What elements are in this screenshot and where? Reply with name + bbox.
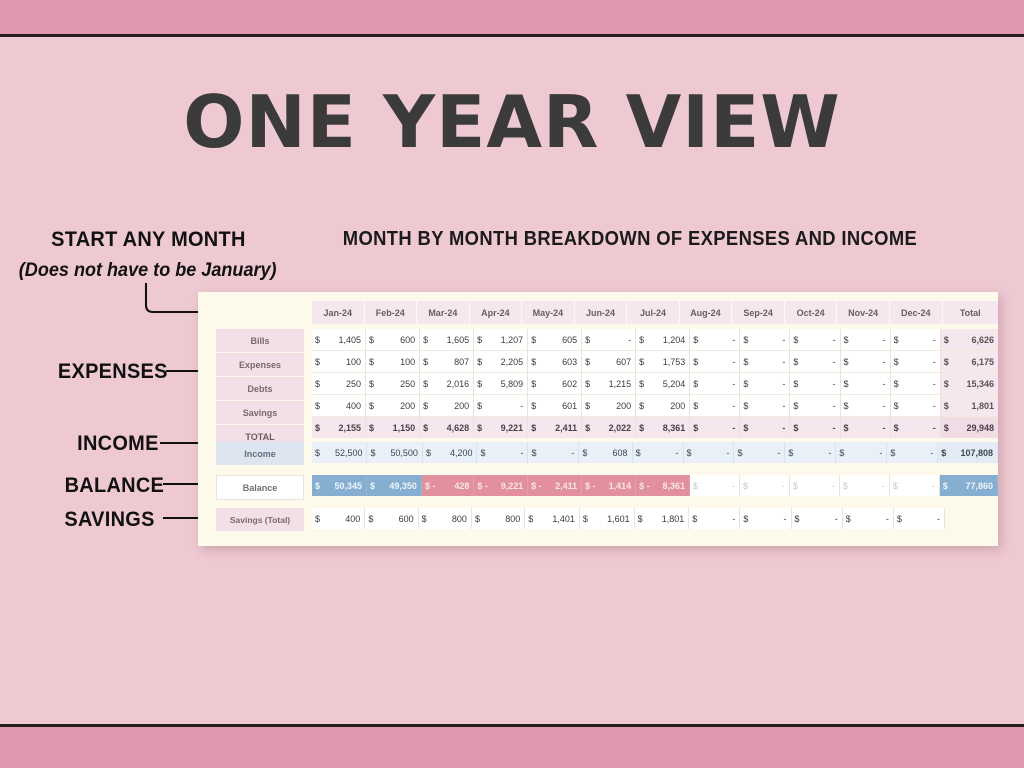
grid-cell[interactable]: $2,205 [474, 351, 528, 373]
grid-cell[interactable]: $ -2,411 [528, 475, 582, 496]
grid-cell[interactable]: $1,601 [580, 508, 635, 529]
cell-value: 77,860 [943, 481, 993, 491]
cell-value: 1,601 [583, 514, 630, 524]
grid-cell[interactable]: $- [690, 351, 740, 373]
row-label-income[interactable]: Income [216, 442, 304, 465]
currency-symbol: $ [893, 481, 898, 491]
grid-cell[interactable]: $50,345 [312, 475, 367, 496]
income-row-label[interactable]: Income [216, 442, 304, 465]
currency-symbol: $ [693, 481, 698, 491]
currency-symbol: $ [793, 335, 798, 345]
currency-symbol: $ [894, 401, 899, 411]
currency-symbol: $ - [531, 481, 542, 491]
cell-value: 50,500 [370, 448, 417, 458]
grid-cell[interactable]: $601 [528, 395, 582, 417]
currency-symbol: $ [315, 335, 320, 345]
grid-cell[interactable]: $ -9,221 [474, 475, 528, 496]
grid-cell[interactable]: $- [690, 417, 740, 438]
cell-value: 5,204 [639, 379, 685, 389]
currency-symbol: $ [844, 335, 849, 345]
currency-symbol: $ [743, 423, 748, 433]
grid-cell[interactable]: $1,215 [582, 373, 636, 395]
grid-cell[interactable]: $605 [528, 329, 582, 351]
row-label-savings-total[interactable]: Savings (Total) [216, 508, 304, 531]
currency-symbol: $ [890, 448, 895, 458]
cell-value: - [839, 448, 882, 458]
cell-value: - [793, 379, 835, 389]
table-row[interactable]: $50,345$49,350$ -428$ -9,221$ -2,411$ -1… [312, 475, 998, 496]
cell-value: 200 [423, 401, 469, 411]
currency-symbol: $ [528, 514, 533, 524]
grid-cell[interactable]: $- [684, 442, 735, 463]
grid-cell[interactable]: $- [840, 475, 890, 496]
cell-value: - [693, 335, 735, 345]
grid-cell[interactable]: $- [891, 351, 941, 373]
grid-cell[interactable]: $- [841, 395, 891, 417]
currency-symbol: $ [426, 448, 431, 458]
currency-symbol: $ [743, 514, 748, 524]
currency-symbol: $ [585, 335, 590, 345]
currency-symbol: $ [477, 335, 482, 345]
cell-value: 50,345 [315, 481, 362, 491]
cell-value: 1,801 [944, 401, 994, 411]
cell-value: - [743, 379, 785, 389]
cell-value: 15,346 [944, 379, 994, 389]
grid-cell[interactable]: $- [891, 329, 941, 351]
table-row[interactable]: $52,500$50,500$4,200$-$-$608$-$-$-$-$-$-… [312, 442, 998, 463]
currency-symbol: $ [315, 401, 320, 411]
currency-symbol: $ [944, 335, 949, 345]
currency-symbol: $ [477, 423, 482, 433]
cell-value: - [693, 379, 735, 389]
currency-symbol: $ [844, 379, 849, 389]
grid-cell[interactable]: $4,628 [420, 417, 474, 438]
cell-value: 107,808 [941, 448, 993, 458]
currency-symbol: $ [687, 448, 692, 458]
cell-value: - [585, 335, 631, 345]
cell-value: - [844, 357, 886, 367]
cell-value: - [743, 335, 785, 345]
currency-symbol: $ [368, 514, 373, 524]
grid-cell[interactable]: $- [740, 417, 790, 438]
currency-symbol: $ [743, 401, 748, 411]
grid-cell[interactable]: $- [740, 475, 790, 496]
grid-cell[interactable]: $800 [472, 508, 525, 529]
currency-symbol: $ [531, 448, 536, 458]
table-row[interactable]: $1,405$600$1,605$1,207$605$-$1,204$-$-$-… [312, 329, 998, 351]
currency-symbol: $ [941, 448, 946, 458]
currency-symbol: $ [423, 357, 428, 367]
grid-cell[interactable]: $- [841, 351, 891, 373]
cell-value: - [693, 401, 735, 411]
grid-cell[interactable]: $4,200 [423, 442, 478, 463]
column-header-nov-24: Nov-24 [837, 301, 890, 324]
grid-cell[interactable]: $5,204 [636, 373, 690, 395]
grid-cell[interactable]: $- [891, 395, 941, 417]
currency-symbol: $ [693, 423, 698, 433]
cell-value: - [692, 514, 735, 524]
grid-cell[interactable]: $- [740, 373, 790, 395]
cell-value: - [743, 401, 785, 411]
currency-symbol: $ [531, 357, 536, 367]
currency-symbol: $ [846, 514, 851, 524]
grid-cell[interactable]: $6,175 [941, 351, 998, 373]
cell-value: 250 [315, 379, 361, 389]
cell-value: - [531, 448, 574, 458]
grid-cell[interactable]: $- [841, 373, 891, 395]
currency-symbol: $ [315, 423, 320, 433]
cell-value: 800 [422, 514, 467, 524]
currency-symbol: $ [639, 335, 644, 345]
cell-value: - [480, 448, 523, 458]
grid-cell[interactable]: $- [689, 508, 740, 529]
cell-value: - [844, 401, 886, 411]
grid-cell[interactable]: $600 [365, 508, 418, 529]
cell-value: 400 [315, 401, 361, 411]
grid-cell[interactable]: $603 [528, 351, 582, 373]
grid-cell[interactable]: $400 [312, 395, 366, 417]
grid-cell[interactable]: $- [894, 508, 945, 529]
cell-value: 4,200 [426, 448, 473, 458]
cell-value: 5,809 [477, 379, 523, 389]
cell-value: 600 [369, 335, 415, 345]
cell-value: 9,221 [477, 423, 523, 433]
grid-cell[interactable]: $1,801 [941, 395, 998, 417]
currency-symbol: $ [793, 379, 798, 389]
cell-value: - [793, 335, 835, 345]
column-header-jul-24: Jul-24 [627, 301, 679, 324]
currency-symbol: $ [692, 514, 697, 524]
grid-cell[interactable]: $- [890, 475, 940, 496]
cell-value: 6,175 [944, 357, 994, 367]
currency-symbol: $ [477, 357, 482, 367]
grid-cell[interactable]: $- [785, 442, 836, 463]
grid-cell[interactable]: $- [790, 395, 840, 417]
grid-cell[interactable]: $5,809 [474, 373, 528, 395]
grid-cell[interactable]: $602 [528, 373, 582, 395]
cell-value: 1,207 [477, 335, 523, 345]
grid-cell[interactable]: $- [790, 329, 840, 351]
grid-cell[interactable]: $- [891, 417, 941, 438]
grid-cell[interactable]: $200 [636, 395, 690, 417]
grid-cell[interactable]: $29,948 [941, 417, 998, 438]
cell-value: - [894, 357, 936, 367]
cell-value: 29,948 [944, 423, 994, 433]
cell-value: - [477, 401, 523, 411]
grid-cell[interactable]: $- [836, 442, 887, 463]
currency-symbol: $ [582, 448, 587, 458]
currency-symbol: $ [370, 448, 375, 458]
currency-symbol: $ [793, 481, 798, 491]
balance-row-label[interactable]: Balance [216, 475, 304, 500]
grid-cell[interactable]: $- [792, 508, 843, 529]
cell-value: - [743, 481, 785, 491]
grid-cell[interactable]: $1,207 [474, 329, 528, 351]
currency-symbol: $ - [639, 481, 650, 491]
currency-symbol: $ [737, 448, 742, 458]
cell-value: - [894, 423, 936, 433]
spreadsheet-grid[interactable]: Jan-24Feb-24Mar-24Apr-24May-24Jun-24Jul-… [198, 292, 998, 546]
currency-symbol: $ [897, 514, 902, 524]
grid-cell[interactable]: $- [477, 442, 528, 463]
cell-value: - [693, 423, 735, 433]
cell-value: - [894, 401, 936, 411]
cell-value: 2,205 [477, 357, 523, 367]
currency-symbol: $ [583, 514, 588, 524]
callout-income: INCOME [77, 432, 159, 456]
column-header-aug-24: Aug-24 [680, 301, 733, 324]
table-header-row: Jan-24Feb-24Mar-24Apr-24May-24Jun-24Jul-… [312, 301, 998, 324]
currency-symbol: $ [639, 423, 644, 433]
row-label-balance[interactable]: Balance [216, 475, 304, 500]
currency-symbol: $ [944, 401, 949, 411]
currency-symbol: $ [585, 401, 590, 411]
grid-cell[interactable]: $- [474, 395, 528, 417]
cell-value: - [788, 448, 831, 458]
table-row[interactable]: $400$600$800$800$1,401$1,601$1,801$-$-$-… [312, 508, 998, 529]
grid-cell[interactable]: $6,626 [941, 329, 998, 351]
cell-value: - [894, 379, 936, 389]
grid-cell[interactable]: $1,204 [636, 329, 690, 351]
currency-symbol: $ [743, 357, 748, 367]
callout-savings: SAVINGS [64, 508, 154, 532]
currency-symbol: $ [693, 335, 698, 345]
grid-cell[interactable]: $- [690, 475, 740, 496]
grid-cell[interactable]: $600 [366, 329, 420, 351]
grid-cell[interactable]: $- [790, 351, 840, 373]
grid-cell[interactable]: $- [740, 395, 790, 417]
cell-value: - [844, 423, 886, 433]
grid-cell[interactable]: $15,346 [941, 373, 998, 395]
cell-value: 608 [582, 448, 627, 458]
currency-symbol: $ - [585, 481, 596, 491]
row-label-expenses[interactable]: Expenses [216, 353, 304, 377]
grid-cell[interactable]: $607 [582, 351, 636, 373]
grid-cell[interactable]: $9,221 [474, 417, 528, 438]
grid-cell[interactable]: $- [690, 329, 740, 351]
grid-cell[interactable]: $- [740, 508, 791, 529]
grid-cell[interactable]: $- [891, 373, 941, 395]
table-row[interactable]: $250$250$2,016$5,809$602$1,215$5,204$-$-… [312, 373, 998, 395]
cell-value: - [743, 423, 785, 433]
currency-symbol: $ [638, 514, 643, 524]
row-label-savings[interactable]: Savings [216, 401, 304, 425]
cell-value: - [894, 335, 936, 345]
grid-cell[interactable]: $250 [312, 373, 366, 395]
grid-cell[interactable]: $- [734, 442, 785, 463]
currency-symbol: $ [531, 401, 536, 411]
currency-symbol: $ [944, 423, 949, 433]
currency-symbol: $ - [477, 481, 488, 491]
cell-value: 100 [369, 357, 415, 367]
grid-cell[interactable]: $800 [419, 508, 472, 529]
currency-symbol: $ [423, 401, 428, 411]
column-header-feb-24: Feb-24 [365, 301, 418, 324]
callout-expenses: EXPENSES [58, 360, 168, 384]
balance-values-table[interactable]: $50,345$49,350$ -428$ -9,221$ -2,411$ -1… [312, 475, 998, 496]
currency-symbol: $ [844, 401, 849, 411]
cell-value: - [893, 481, 935, 491]
currency-symbol: $ [315, 379, 320, 389]
currency-symbol: $ [743, 481, 748, 491]
savings-row-label[interactable]: Savings (Total) [216, 508, 304, 531]
cell-value: 6,626 [944, 335, 994, 345]
cell-value: 807 [423, 357, 469, 367]
column-header-jan-24: Jan-24 [312, 301, 365, 324]
savings-values-table[interactable]: $400$600$800$800$1,401$1,601$1,801$-$-$-… [312, 508, 998, 529]
grid-cell[interactable]: $- [528, 442, 579, 463]
expense-row-labels[interactable]: BillsExpensesDebtsSavingsTOTAL [216, 329, 304, 448]
currency-symbol: $ [795, 514, 800, 524]
cell-value: - [897, 514, 940, 524]
grid-cell[interactable]: $ -1,414 [582, 475, 636, 496]
spreadsheet-panel[interactable]: Jan-24Feb-24Mar-24Apr-24May-24Jun-24Jul-… [198, 292, 998, 546]
grid-cell[interactable]: $250 [366, 373, 420, 395]
currency-symbol: $ [423, 379, 428, 389]
grid-cell[interactable]: $400 [312, 508, 365, 529]
currency-symbol: $ [477, 379, 482, 389]
cell-value: 607 [585, 357, 631, 367]
cell-value: - [844, 335, 886, 345]
currency-symbol: $ [793, 423, 798, 433]
cell-value: 2,155 [315, 423, 361, 433]
grid-cell[interactable]: $50,500 [367, 442, 422, 463]
grid-cell[interactable]: $1,405 [312, 329, 366, 351]
income-values-table[interactable]: $52,500$50,500$4,200$-$-$608$-$-$-$-$-$-… [312, 442, 998, 463]
grid-cell[interactable]: $- [582, 329, 636, 351]
grid-cell[interactable]: $107,808 [938, 442, 998, 463]
currency-symbol: $ [531, 423, 536, 433]
cell-value: - [843, 481, 885, 491]
grid-cell[interactable]: $ -8,361 [636, 475, 690, 496]
cell-value: 800 [475, 514, 520, 524]
grid-cell[interactable]: $- [841, 329, 891, 351]
cell-value: - [737, 448, 780, 458]
cell-value: - [693, 357, 735, 367]
cell-value: 2,016 [423, 379, 469, 389]
grid-cell[interactable]: $- [843, 508, 894, 529]
cell-value: - [793, 481, 835, 491]
currency-symbol: $ [639, 379, 644, 389]
grid-cell[interactable]: $1,150 [366, 417, 420, 438]
cell-value: 2,022 [585, 423, 631, 433]
currency-symbol: $ [369, 357, 374, 367]
row-label-debts[interactable]: Debts [216, 377, 304, 401]
currency-symbol: $ [531, 335, 536, 345]
cell-value: 100 [315, 357, 361, 367]
currency-symbol: $ [315, 357, 320, 367]
callout-balance: BALANCE [65, 474, 165, 498]
currency-symbol: $ [693, 379, 698, 389]
cell-value: 200 [369, 401, 415, 411]
table-row[interactable]: $100$100$807$2,205$603$607$1,753$-$-$-$-… [312, 351, 998, 373]
grid-cell[interactable]: $200 [420, 395, 474, 417]
grid-cell[interactable]: $2,016 [420, 373, 474, 395]
cell-value: - [793, 357, 835, 367]
grid-cell[interactable]: $- [790, 417, 840, 438]
grid-cell[interactable]: $200 [366, 395, 420, 417]
grid-cell[interactable]: $- [690, 373, 740, 395]
cell-value: 600 [368, 514, 413, 524]
grid-cell[interactable]: $- [740, 329, 790, 351]
cell-value: 200 [585, 401, 631, 411]
grid-cell[interactable]: $100 [312, 351, 366, 373]
currency-symbol: $ [639, 357, 644, 367]
grid-cell[interactable]: $- [690, 395, 740, 417]
grid-cell[interactable]: $1,605 [420, 329, 474, 351]
grid-cell[interactable]: $1,801 [635, 508, 690, 529]
grid-cell[interactable]: $- [740, 351, 790, 373]
grid-cell[interactable]: $1,401 [525, 508, 580, 529]
column-header-sep-24: Sep-24 [732, 301, 785, 324]
currency-symbol: $ [369, 401, 374, 411]
grid-cell[interactable]: $608 [579, 442, 632, 463]
table-row[interactable]: $2,155$1,150$4,628$9,221$2,411$2,022$8,3… [312, 417, 998, 438]
grid-cell[interactable]: $- [790, 475, 840, 496]
row-label-bills[interactable]: Bills [216, 329, 304, 353]
currency-symbol: $ [693, 401, 698, 411]
currency-symbol: $ [743, 379, 748, 389]
currency-symbol: $ [793, 357, 798, 367]
cell-value: - [793, 423, 835, 433]
cell-value: - [743, 357, 785, 367]
grid-cell[interactable]: $ -428 [422, 475, 474, 496]
grid-cell[interactable]: $- [633, 442, 684, 463]
grid-cell[interactable]: $- [790, 373, 840, 395]
expense-values-table[interactable]: $1,405$600$1,605$1,207$605$-$1,204$-$-$-… [312, 329, 998, 438]
cell-value: - [793, 401, 835, 411]
currency-symbol: $ [422, 514, 427, 524]
column-header-mar-24: Mar-24 [417, 301, 470, 324]
grid-cell[interactable]: $- [887, 442, 938, 463]
grid-cell[interactable]: $8,361 [636, 417, 690, 438]
cell-value: 4,628 [423, 423, 469, 433]
grid-cell[interactable]: $52,500 [312, 442, 367, 463]
currency-symbol: $ [370, 481, 375, 491]
grid-cell[interactable]: $77,860 [940, 475, 998, 496]
currency-symbol: $ [743, 335, 748, 345]
cell-value: 1,150 [369, 423, 415, 433]
cell-value: 602 [531, 379, 577, 389]
cell-value: 200 [639, 401, 685, 411]
currency-symbol: $ [480, 448, 485, 458]
grid-cell[interactable]: $807 [420, 351, 474, 373]
grid-cell[interactable]: $200 [582, 395, 636, 417]
cell-value: 1,204 [639, 335, 685, 345]
grid-cell[interactable]: $2,022 [582, 417, 636, 438]
grid-cell[interactable]: $1,753 [636, 351, 690, 373]
currency-symbol: $ [315, 448, 320, 458]
currency-symbol: $ [844, 423, 849, 433]
currency-symbol: $ [793, 401, 798, 411]
cell-value: 2,411 [531, 423, 577, 433]
currency-symbol: $ [369, 335, 374, 345]
currency-symbol: $ [369, 423, 374, 433]
cell-value: - [844, 379, 886, 389]
grid-cell[interactable]: $49,350 [367, 475, 422, 496]
cell-value: - [795, 514, 838, 524]
grid-cell[interactable]: $100 [366, 351, 420, 373]
currency-symbol: $ [693, 357, 698, 367]
currency-symbol: $ [477, 401, 482, 411]
table-row[interactable]: $400$200$200$-$601$200$200$-$-$-$-$-$1,8… [312, 395, 998, 417]
currency-symbol: $ [943, 481, 948, 491]
cell-value: - [846, 514, 889, 524]
currency-symbol: $ [369, 379, 374, 389]
grid-cell[interactable]: $2,155 [312, 417, 366, 438]
grid-cell[interactable]: $- [841, 417, 891, 438]
grid-cell[interactable]: $2,411 [528, 417, 582, 438]
